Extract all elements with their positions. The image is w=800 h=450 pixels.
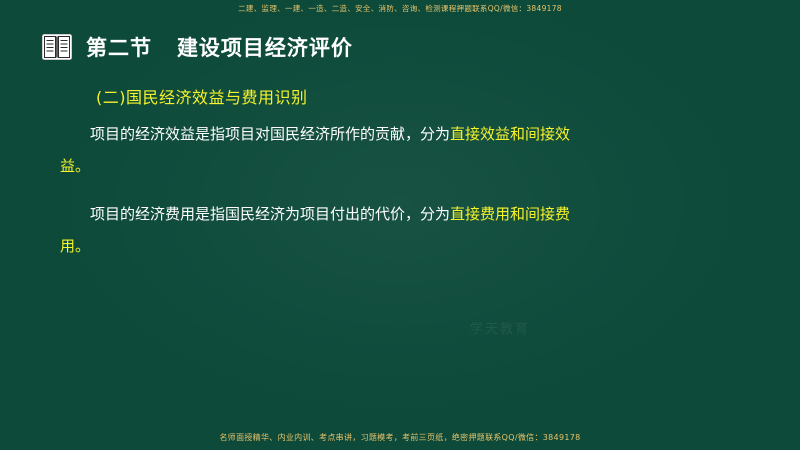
top-banner-text: 二建、监理、一建、一造、二造、安全、消防、咨询、检测课程押题联系QQ/微信：38… xyxy=(238,3,562,14)
slide-title-row: 第二节 建设项目经济评价 xyxy=(42,30,353,64)
book-icon xyxy=(42,34,72,60)
section-label: 第二节 xyxy=(86,36,152,60)
top-banner: 二建、监理、一建、一造、二造、安全、消防、咨询、检测课程押题联系QQ/微信：38… xyxy=(0,0,800,16)
slide-canvas: 二建、监理、一建、一造、二造、安全、消防、咨询、检测课程押题联系QQ/微信：38… xyxy=(0,0,800,450)
bottom-banner: 名师面授精华、内业内训、考点串讲，习题模考，考前三页纸，绝密押题联系QQ/微信：… xyxy=(0,424,800,450)
paragraph-economic-benefit: 项目的经济效益是指项目对国民经济所作的贡献，分为直接效益和间接效益。 xyxy=(60,118,580,182)
watermark: 学天教育 xyxy=(470,318,530,337)
bottom-banner-text: 名师面授精华、内业内训、考点串讲，习题模考，考前三页纸，绝密押题联系QQ/微信：… xyxy=(219,432,580,443)
paragraph-economic-cost: 项目的经济费用是指国民经济为项目付出的代价，分为直接费用和间接费用。 xyxy=(60,198,580,262)
paragraph-2-highlight-a: 直 xyxy=(450,205,465,223)
paragraph-1-plain: 项目的经济效益是指项目对国民经济所作的贡献，分为 xyxy=(90,125,450,143)
section-title: 建设项目经济评价 xyxy=(177,36,353,60)
paragraph-2-plain: 项目的经济费用是指国民经济为项目付出的代价，分为 xyxy=(90,205,450,223)
page-title: 第二节 建设项目经济评价 xyxy=(86,32,353,62)
paragraph-1-highlight-a: 直 xyxy=(450,125,465,143)
subheading: (二)国民经济效益与费用识别 xyxy=(96,84,308,108)
